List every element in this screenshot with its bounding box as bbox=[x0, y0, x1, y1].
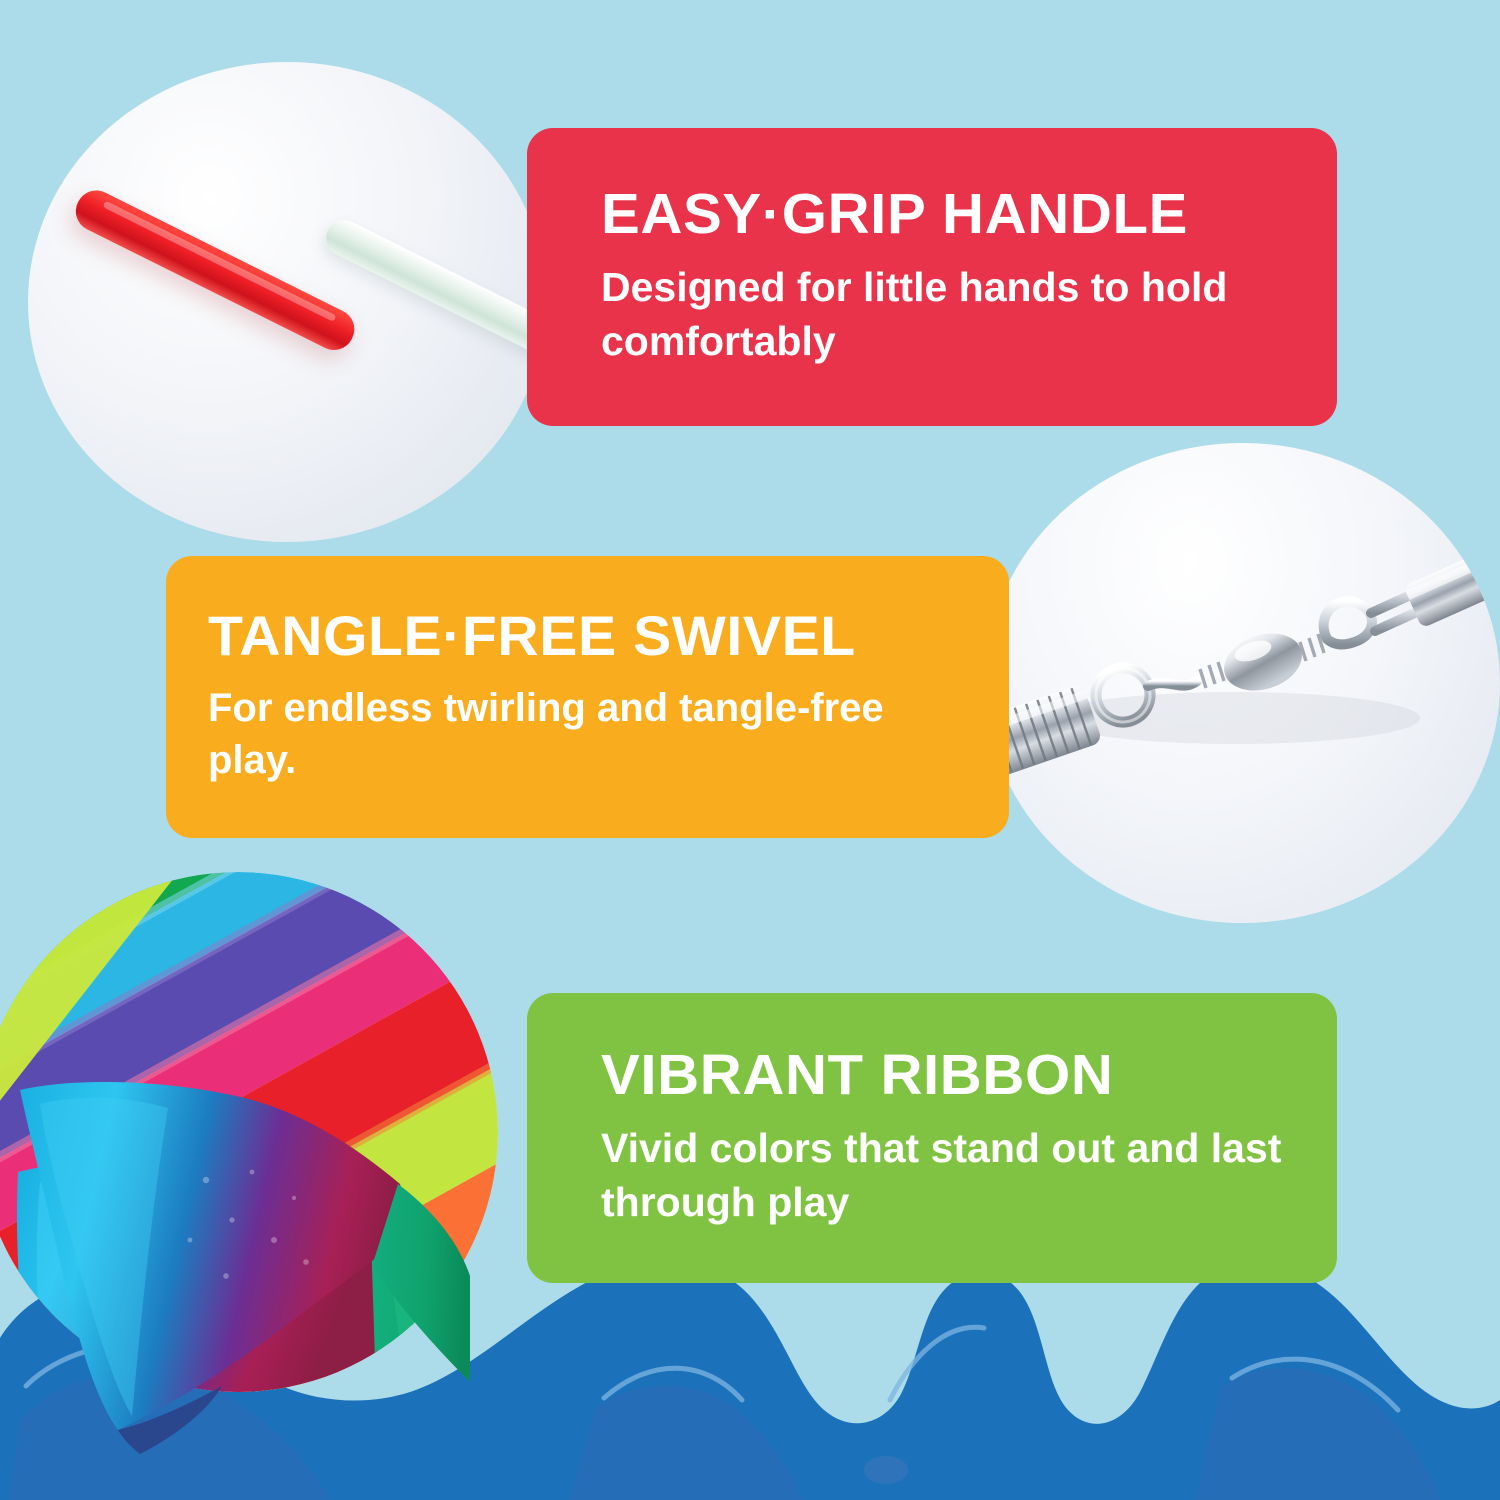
feature-body-vibrant-ribbon: Vivid colors that stand out and last thr… bbox=[601, 1122, 1303, 1229]
ribbon-photo-circle bbox=[0, 872, 498, 1392]
handle-rod-white bbox=[320, 214, 546, 398]
feature-body-tangle-free-swivel: For endless twirling and tangle-free pla… bbox=[208, 682, 979, 786]
feature-panel-vibrant-ribbon: VIBRANT RIBBON Vivid colors that stand o… bbox=[527, 993, 1337, 1283]
feature-title-tangle-free-swivel: TANGLE·FREE SWIVEL bbox=[208, 608, 994, 664]
rainbow-ribbon-illustration bbox=[0, 872, 498, 1392]
swivel-photo-circle bbox=[985, 443, 1500, 923]
handle-grip-red bbox=[69, 184, 361, 357]
handle-photo-circle bbox=[28, 62, 546, 542]
feature-title-easy-grip-handle: EASY·GRIP HANDLE bbox=[601, 186, 1317, 243]
feature-body-easy-grip-handle: Designed for little hands to hold comfor… bbox=[601, 261, 1303, 368]
feature-panel-easy-grip-handle: EASY·GRIP HANDLE Designed for little han… bbox=[527, 128, 1337, 426]
feature-title-vibrant-ribbon: VIBRANT RIBBON bbox=[601, 1047, 1317, 1104]
swivel-illustration bbox=[985, 443, 1500, 923]
feature-panel-tangle-free-swivel: TANGLE·FREE SWIVEL For endless twirling … bbox=[166, 556, 1009, 838]
product-feature-infographic: EASY·GRIP HANDLE Designed for little han… bbox=[0, 0, 1500, 1500]
